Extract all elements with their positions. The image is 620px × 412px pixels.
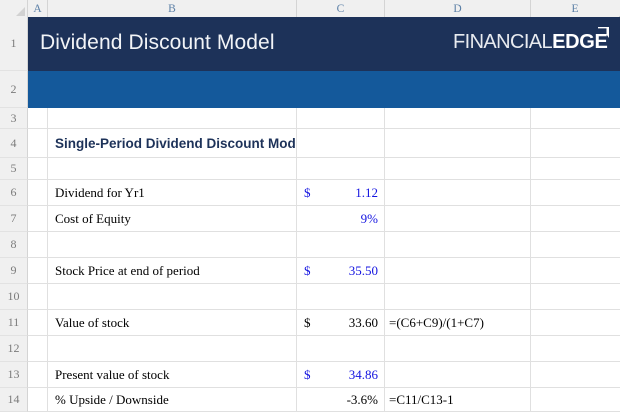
cell-c6[interactable]: $ 1.12 bbox=[297, 180, 385, 206]
row-header-11[interactable]: 11 bbox=[0, 310, 28, 336]
cell-a8[interactable] bbox=[28, 232, 48, 258]
cell-a14[interactable] bbox=[28, 388, 48, 412]
cell-a13[interactable] bbox=[28, 362, 48, 388]
logo-corner-flag-icon bbox=[597, 26, 610, 39]
row-header-5[interactable]: 5 bbox=[0, 158, 28, 180]
cell-b14[interactable]: % Upside / Downside bbox=[48, 388, 297, 412]
cell-a12[interactable] bbox=[28, 336, 48, 362]
cell-b13[interactable]: Present value of stock bbox=[48, 362, 297, 388]
cell-b7[interactable]: Cost of Equity bbox=[48, 206, 297, 232]
cell-c14[interactable]: -3.6% bbox=[297, 388, 385, 412]
cell-d10[interactable] bbox=[385, 284, 531, 310]
cell-a3[interactable] bbox=[28, 108, 48, 129]
row-header-13[interactable]: 13 bbox=[0, 362, 28, 388]
column-header-e[interactable]: E bbox=[531, 0, 619, 17]
column-header-strip: A B C D E bbox=[0, 0, 620, 17]
row-header-12[interactable]: 12 bbox=[0, 336, 28, 362]
value-cost-of-equity: 9% bbox=[361, 211, 378, 227]
cell-e14[interactable] bbox=[531, 388, 620, 412]
cell-b5[interactable] bbox=[48, 158, 297, 180]
cell-a11[interactable] bbox=[28, 310, 48, 336]
row-label-stock-price-end: Stock Price at end of period bbox=[48, 263, 200, 279]
logo-text-financial: FINANCIAL bbox=[453, 31, 552, 53]
value-number: 1.12 bbox=[355, 185, 378, 201]
value-value-of-stock: $ 33.60 bbox=[297, 315, 384, 331]
spreadsheet-canvas: A B C D E 1 2 3 4 5 6 7 8 9 10 11 12 13 … bbox=[0, 0, 620, 412]
cell-a6[interactable] bbox=[28, 180, 48, 206]
row-header-8[interactable]: 8 bbox=[0, 232, 28, 258]
row-header-7[interactable]: 7 bbox=[0, 206, 28, 232]
cell-d4[interactable] bbox=[385, 129, 531, 158]
cell-e5[interactable] bbox=[531, 158, 620, 180]
row-label-upside-downside: % Upside / Downside bbox=[48, 392, 169, 408]
cell-b6[interactable]: Dividend for Yr1 bbox=[48, 180, 297, 206]
row-header-1[interactable]: 1 bbox=[0, 17, 28, 71]
formula-value-of-stock: =(C6+C9)/(1+C7) bbox=[385, 315, 484, 331]
cell-a7[interactable] bbox=[28, 206, 48, 232]
cell-d11[interactable]: =(C6+C9)/(1+C7) bbox=[385, 310, 531, 336]
cell-b4[interactable]: Single-Period Dividend Discount Model bbox=[48, 129, 297, 158]
currency-symbol: $ bbox=[304, 263, 311, 279]
column-header-a[interactable]: A bbox=[28, 0, 48, 17]
cell-d13[interactable] bbox=[385, 362, 531, 388]
row-header-9[interactable]: 9 bbox=[0, 258, 28, 284]
row-header-4[interactable]: 4 bbox=[0, 129, 28, 158]
cell-a9[interactable] bbox=[28, 258, 48, 284]
value-dividend-yr1: $ 1.12 bbox=[297, 185, 384, 201]
cell-d6[interactable] bbox=[385, 180, 531, 206]
cell-c8[interactable] bbox=[297, 232, 385, 258]
value-stock-price-end: $ 35.50 bbox=[297, 263, 384, 279]
column-header-b[interactable]: B bbox=[48, 0, 297, 17]
cell-b8[interactable] bbox=[48, 232, 297, 258]
row-label-cost-of-equity: Cost of Equity bbox=[48, 211, 131, 227]
section-heading: Single-Period Dividend Discount Model bbox=[48, 136, 297, 151]
cell-e8[interactable] bbox=[531, 232, 620, 258]
row-header-6[interactable]: 6 bbox=[0, 180, 28, 206]
cell-b10[interactable] bbox=[48, 284, 297, 310]
cell-e9[interactable] bbox=[531, 258, 620, 284]
value-number: 34.86 bbox=[349, 367, 378, 383]
cell-d12[interactable] bbox=[385, 336, 531, 362]
brand-logo: FINANCIALEDGE bbox=[453, 32, 608, 52]
cell-b3[interactable] bbox=[48, 108, 297, 129]
cell-c3[interactable] bbox=[297, 108, 385, 129]
cell-d7[interactable] bbox=[385, 206, 531, 232]
cell-a5[interactable] bbox=[28, 158, 48, 180]
value-upside-downside: -3.6% bbox=[347, 392, 378, 408]
row-label-present-value: Present value of stock bbox=[48, 367, 169, 383]
cell-a10[interactable] bbox=[28, 284, 48, 310]
cell-d3[interactable] bbox=[385, 108, 531, 129]
cell-d5[interactable] bbox=[385, 158, 531, 180]
currency-symbol: $ bbox=[304, 315, 311, 331]
cell-c5[interactable] bbox=[297, 158, 385, 180]
cell-b12[interactable] bbox=[48, 336, 297, 362]
cell-b9[interactable]: Stock Price at end of period bbox=[48, 258, 297, 284]
cell-e6[interactable] bbox=[531, 180, 620, 206]
currency-symbol: $ bbox=[304, 367, 311, 383]
cell-e3[interactable] bbox=[531, 108, 620, 129]
cell-c7[interactable]: 9% bbox=[297, 206, 385, 232]
cell-b11[interactable]: Value of stock bbox=[48, 310, 297, 336]
cell-e10[interactable] bbox=[531, 284, 620, 310]
select-all-triangle-icon bbox=[16, 7, 25, 16]
cell-c13[interactable]: $ 34.86 bbox=[297, 362, 385, 388]
page-title: Dividend Discount Model bbox=[40, 31, 275, 55]
select-all-corner[interactable] bbox=[0, 0, 28, 17]
cell-d14[interactable]: =C11/C13-1 bbox=[385, 388, 531, 412]
cell-c9[interactable]: $ 35.50 bbox=[297, 258, 385, 284]
title-banner: Dividend Discount Model FINANCIALEDGE bbox=[28, 17, 620, 71]
value-number: 35.50 bbox=[349, 263, 378, 279]
cell-c11[interactable]: $ 33.60 bbox=[297, 310, 385, 336]
cell-a4[interactable] bbox=[28, 129, 48, 158]
cell-e4[interactable] bbox=[531, 129, 620, 158]
currency-symbol: $ bbox=[304, 185, 311, 201]
formula-upside-downside: =C11/C13-1 bbox=[385, 392, 454, 408]
cell-d8[interactable] bbox=[385, 232, 531, 258]
column-header-d[interactable]: D bbox=[385, 0, 531, 17]
cell-c12[interactable] bbox=[297, 336, 385, 362]
row-header-14[interactable]: 14 bbox=[0, 388, 28, 412]
cell-e12[interactable] bbox=[531, 336, 620, 362]
row-label-value-of-stock: Value of stock bbox=[48, 315, 129, 331]
row-header-2[interactable]: 2 bbox=[0, 71, 28, 108]
cell-c4[interactable] bbox=[297, 129, 385, 158]
cell-e7[interactable] bbox=[531, 206, 620, 232]
column-header-c[interactable]: C bbox=[297, 0, 385, 17]
cell-d9[interactable] bbox=[385, 258, 531, 284]
row-header-3[interactable]: 3 bbox=[0, 108, 28, 129]
row-label-dividend-yr1: Dividend for Yr1 bbox=[48, 185, 145, 201]
cell-c10[interactable] bbox=[297, 284, 385, 310]
accent-banner bbox=[28, 71, 620, 108]
cell-e11[interactable] bbox=[531, 310, 620, 336]
value-number: 33.60 bbox=[349, 315, 378, 331]
row-header-10[interactable]: 10 bbox=[0, 284, 28, 310]
value-present-value: $ 34.86 bbox=[297, 367, 384, 383]
cell-e13[interactable] bbox=[531, 362, 620, 388]
